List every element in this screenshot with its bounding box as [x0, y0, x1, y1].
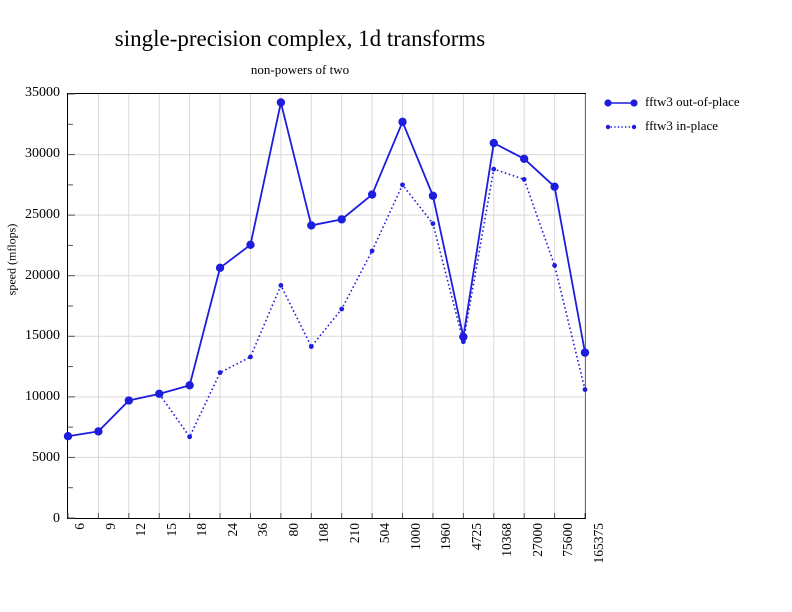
x-axis-tick-label: 36 [256, 523, 270, 537]
y-axis-tick-label: 15000 [4, 329, 60, 343]
x-axis-tick-label: 210 [348, 523, 362, 543]
legend-label-out-of-place: fftw3 out-of-place [645, 94, 740, 110]
data-point-marker [400, 182, 405, 187]
x-axis-tick-label: 9 [104, 523, 118, 530]
data-point-marker [248, 354, 253, 359]
data-series-layer [68, 94, 585, 518]
data-point-marker [550, 182, 558, 190]
data-point-marker [278, 283, 283, 288]
y-axis-tick-labels: 05000100001500020000250003000035000 [0, 93, 60, 519]
data-point-marker [185, 381, 193, 389]
data-point-marker [218, 370, 223, 375]
data-point-marker [581, 348, 589, 356]
data-point-marker [94, 427, 102, 435]
data-point-marker [490, 139, 498, 147]
chart-title: single-precision complex, 1d transforms [0, 26, 600, 52]
data-point-marker [309, 344, 314, 349]
x-axis-tick-labels: 6912151824368010821050410001960472510368… [67, 523, 586, 603]
legend-item-in-place[interactable]: fftw3 in-place [604, 116, 789, 136]
legend-swatch-dotted-line [604, 120, 638, 132]
data-point-marker [338, 215, 346, 223]
data-point-marker [216, 264, 224, 272]
data-point-marker [520, 155, 528, 163]
y-axis-tick-label: 35000 [4, 86, 60, 100]
x-axis-tick-label: 504 [378, 523, 392, 543]
x-axis-tick-label: 10368 [500, 523, 514, 557]
x-axis-tick-label: 80 [287, 523, 301, 537]
data-point-marker [246, 241, 254, 249]
data-point-marker [370, 248, 375, 253]
x-axis-tick-label: 108 [317, 523, 331, 543]
x-axis-tick-label: 24 [226, 523, 240, 537]
x-axis-tick-label: 6 [73, 523, 87, 530]
data-point-marker [429, 192, 437, 200]
data-point-marker [431, 221, 436, 226]
data-point-marker [522, 177, 527, 182]
data-point-marker [64, 432, 72, 440]
legend-swatch-solid-line [604, 96, 638, 108]
x-axis-tick-label: 27000 [531, 523, 545, 557]
data-point-marker [368, 190, 376, 198]
x-axis-tick-label: 75600 [561, 523, 575, 557]
data-point-marker [583, 387, 588, 392]
chart-subtitle: non-powers of two [0, 62, 600, 78]
y-axis-tick-label: 10000 [4, 390, 60, 404]
data-point-marker [461, 339, 466, 344]
data-point-marker [307, 221, 315, 229]
legend-item-out-of-place[interactable]: fftw3 out-of-place [604, 92, 789, 112]
y-axis-tick-label: 0 [4, 512, 60, 526]
x-axis-tick-label: 18 [195, 523, 209, 537]
data-point-marker [398, 118, 406, 126]
y-axis-tick-label: 20000 [4, 269, 60, 283]
x-axis-tick-label: 15 [165, 523, 179, 537]
x-axis-tick-label: 1960 [439, 523, 453, 550]
y-axis-tick-label: 5000 [4, 451, 60, 465]
data-point-marker [187, 434, 192, 439]
data-point-marker [552, 263, 557, 268]
plot-area [67, 93, 586, 519]
data-point-marker [491, 167, 496, 172]
series-line-1 [159, 169, 585, 437]
data-point-marker [277, 98, 285, 106]
chart-legend: fftw3 out-of-place fftw3 in-place [604, 92, 789, 140]
x-axis-tick-label: 1000 [409, 523, 423, 550]
x-axis-tick-label: 165375 [592, 523, 606, 564]
legend-label-in-place: fftw3 in-place [645, 118, 718, 134]
series-line-0 [68, 102, 585, 436]
data-point-marker [125, 396, 133, 404]
chart-container: single-precision complex, 1d transforms … [0, 0, 792, 612]
data-point-marker [157, 391, 162, 396]
x-axis-tick-label: 12 [134, 523, 148, 537]
y-axis-tick-label: 30000 [4, 147, 60, 161]
y-axis-tick-label: 25000 [4, 208, 60, 222]
data-point-marker [339, 307, 344, 312]
x-axis-tick-label: 4725 [470, 523, 484, 550]
